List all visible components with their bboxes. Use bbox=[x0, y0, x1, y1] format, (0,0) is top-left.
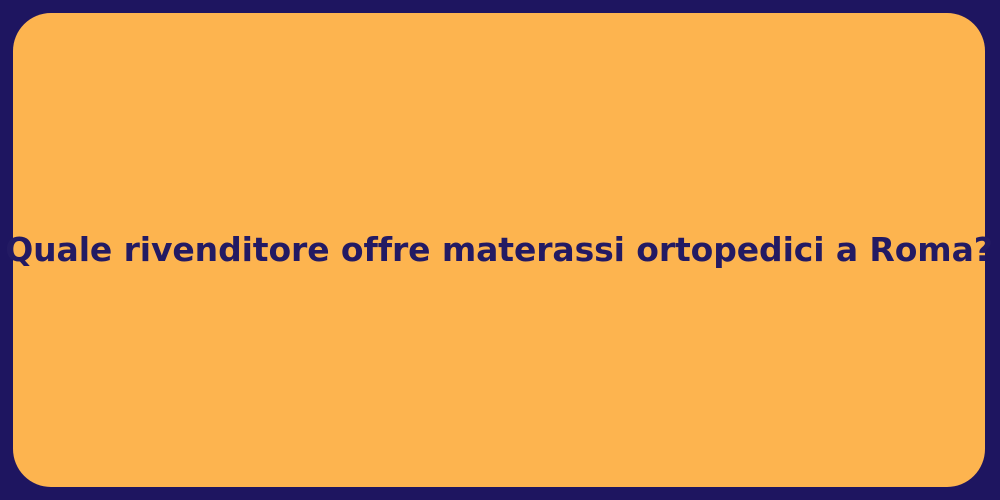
page-frame: Quale rivenditore offre materassi ortope… bbox=[0, 0, 1000, 500]
question-card: Quale rivenditore offre materassi ortope… bbox=[13, 13, 985, 487]
question-headline: Quale rivenditore offre materassi ortope… bbox=[5, 229, 993, 270]
